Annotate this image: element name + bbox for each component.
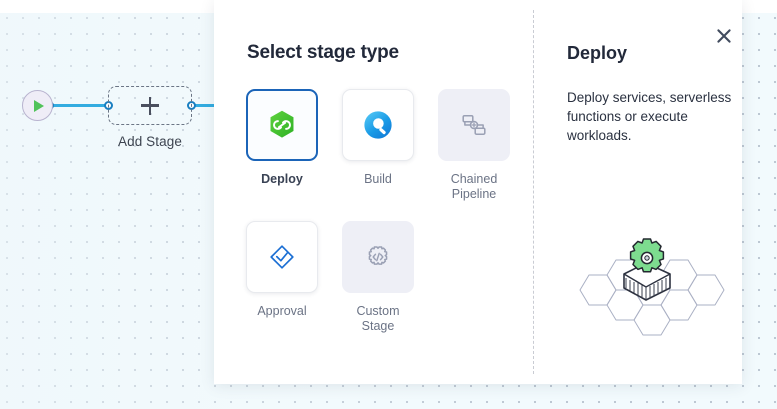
app-root: Add Stage Select stage type — [0, 0, 777, 409]
custom-code-icon — [362, 241, 394, 273]
gear-on-hexagon-platform-illustration — [566, 228, 726, 338]
play-icon — [34, 100, 44, 112]
stage-type-option-chained-pipeline[interactable]: Chained Pipeline — [438, 89, 510, 202]
stage-type-option-deploy[interactable]: Deploy — [246, 89, 318, 202]
stage-type-tile-chained-pipeline[interactable] — [438, 89, 510, 161]
deploy-hexagon-icon — [265, 108, 299, 142]
stage-type-tile-deploy[interactable] — [246, 89, 318, 161]
pipeline-start-node[interactable] — [22, 90, 53, 121]
stage-type-option-build[interactable]: Build — [342, 89, 414, 202]
stage-type-detail-pane: Deploy Deploy services, serverless funct… — [534, 0, 742, 384]
stage-type-grid: Deploy — [246, 89, 526, 334]
detail-description: Deploy services, serverless functions or… — [567, 88, 732, 145]
stage-type-row-2: Approval — [246, 221, 526, 334]
stage-type-option-approval[interactable]: Approval — [246, 221, 318, 334]
add-stage-label: Add Stage — [108, 134, 192, 149]
stage-type-label-custom-stage: Custom Stage — [342, 304, 414, 334]
stage-type-label-chained-pipeline: Chained Pipeline — [438, 172, 510, 202]
approval-check-icon — [266, 241, 298, 273]
plus-icon-vertical — [149, 97, 151, 115]
stage-type-label-deploy: Deploy — [246, 172, 318, 187]
add-stage-node[interactable] — [108, 86, 192, 125]
stage-type-panel: Select stage type — [214, 0, 742, 384]
stage-type-tile-approval[interactable] — [246, 221, 318, 293]
detail-title: Deploy — [567, 43, 627, 64]
panel-title: Select stage type — [247, 42, 399, 64]
stage-type-left-pane: Select stage type — [214, 0, 533, 384]
stage-type-label-build: Build — [342, 172, 414, 187]
stage-type-row-1: Deploy — [246, 89, 526, 202]
chained-pipeline-icon — [458, 109, 490, 141]
stage-type-tile-build[interactable] — [342, 89, 414, 161]
close-icon[interactable] — [712, 24, 735, 47]
stage-type-tile-custom-stage[interactable] — [342, 221, 414, 293]
pipeline-edge-start-to-addstage — [45, 104, 110, 107]
stage-type-label-approval: Approval — [246, 304, 318, 319]
close-x-glyph — [716, 28, 732, 44]
stage-type-option-custom-stage[interactable]: Custom Stage — [342, 221, 414, 334]
build-magnifier-icon — [362, 109, 394, 141]
